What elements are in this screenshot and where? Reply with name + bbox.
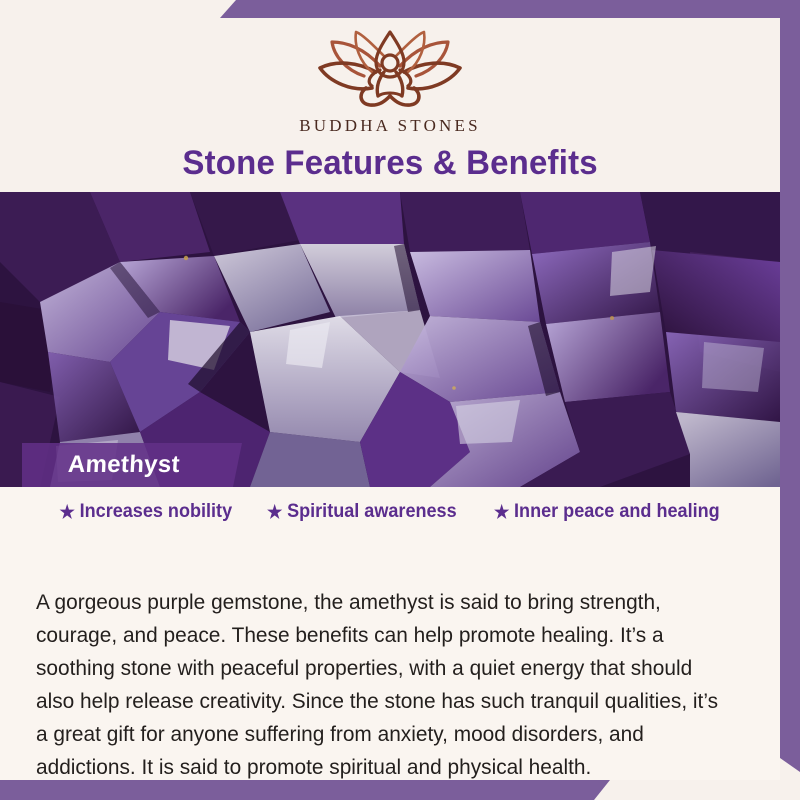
stone-name-banner: Amethyst (22, 443, 242, 487)
brand-logo: BUDDHA STONES (299, 26, 481, 136)
amethyst-cluster-illustration (0, 192, 780, 487)
star-icon: ★ (267, 503, 282, 521)
stone-description: A gorgeous purple gemstone, the amethyst… (36, 586, 731, 784)
star-icon: ★ (494, 503, 509, 521)
benefit-item-3: ★ Inner peace and healing (494, 501, 720, 523)
page-title: Stone Features & Benefits (182, 144, 597, 183)
benefit-item-2: ★ Spiritual awareness (267, 501, 457, 523)
frame-band-right (780, 0, 800, 772)
poster-header: BUDDHA STONES Stone Features & Benefits (0, 18, 780, 192)
frame-band-top (220, 0, 800, 18)
lotus-meditation-icon (306, 26, 474, 112)
brand-name: BUDDHA STONES (299, 116, 481, 136)
benefit-label: Spiritual awareness (287, 501, 457, 523)
benefit-label: Inner peace and healing (514, 501, 720, 523)
benefits-row: ★ Increases nobility ★ Spiritual awarene… (0, 501, 780, 523)
benefit-label: Increases nobility (79, 501, 231, 523)
stone-hero-image: Amethyst (0, 192, 780, 487)
stone-name: Amethyst (67, 451, 180, 479)
star-icon: ★ (59, 503, 74, 521)
stone-info-poster: BUDDHA STONES Stone Features & Benefits (0, 0, 800, 800)
benefit-item-1: ★ Increases nobility (59, 501, 232, 523)
poster-page: BUDDHA STONES Stone Features & Benefits (0, 18, 780, 780)
